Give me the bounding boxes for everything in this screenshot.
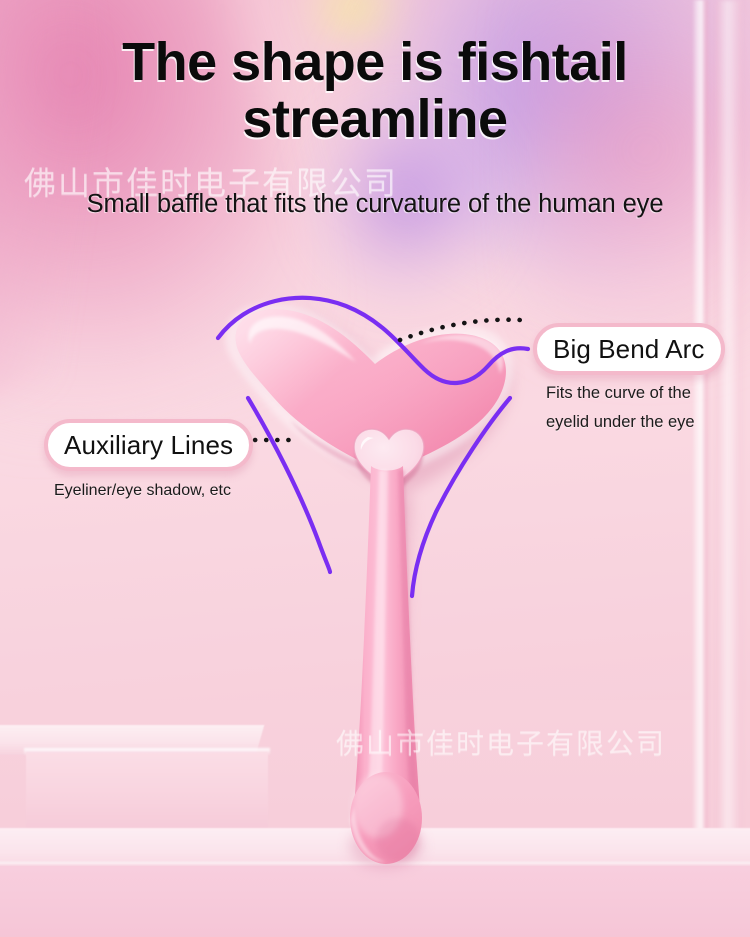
caption-line-1: Fits the curve of the xyxy=(546,379,746,408)
product-marketing-image: 佛山市佳时电子有限公司 The shape is fishtail stream… xyxy=(0,0,750,937)
callout-label-auxiliary-lines: Auxiliary Lines xyxy=(64,430,233,461)
spoon-tip-shade xyxy=(376,818,420,862)
product-handle xyxy=(350,466,422,864)
caption-line-2: eyelid under the eye xyxy=(546,408,746,437)
callout-pill-big-bend-arc[interactable]: Big Bend Arc xyxy=(533,323,725,375)
callout-caption-big-bend-arc: Fits the curve of the eyelid under the e… xyxy=(546,379,746,437)
product-head-fishtail xyxy=(225,303,513,496)
caption-line-1: Eyeliner/eye shadow, etc xyxy=(54,477,304,505)
callout-caption-auxiliary-lines: Eyeliner/eye shadow, etc xyxy=(54,477,304,505)
callout-label-big-bend-arc: Big Bend Arc xyxy=(553,334,705,365)
callout-pill-auxiliary-lines[interactable]: Auxiliary Lines xyxy=(44,419,253,471)
